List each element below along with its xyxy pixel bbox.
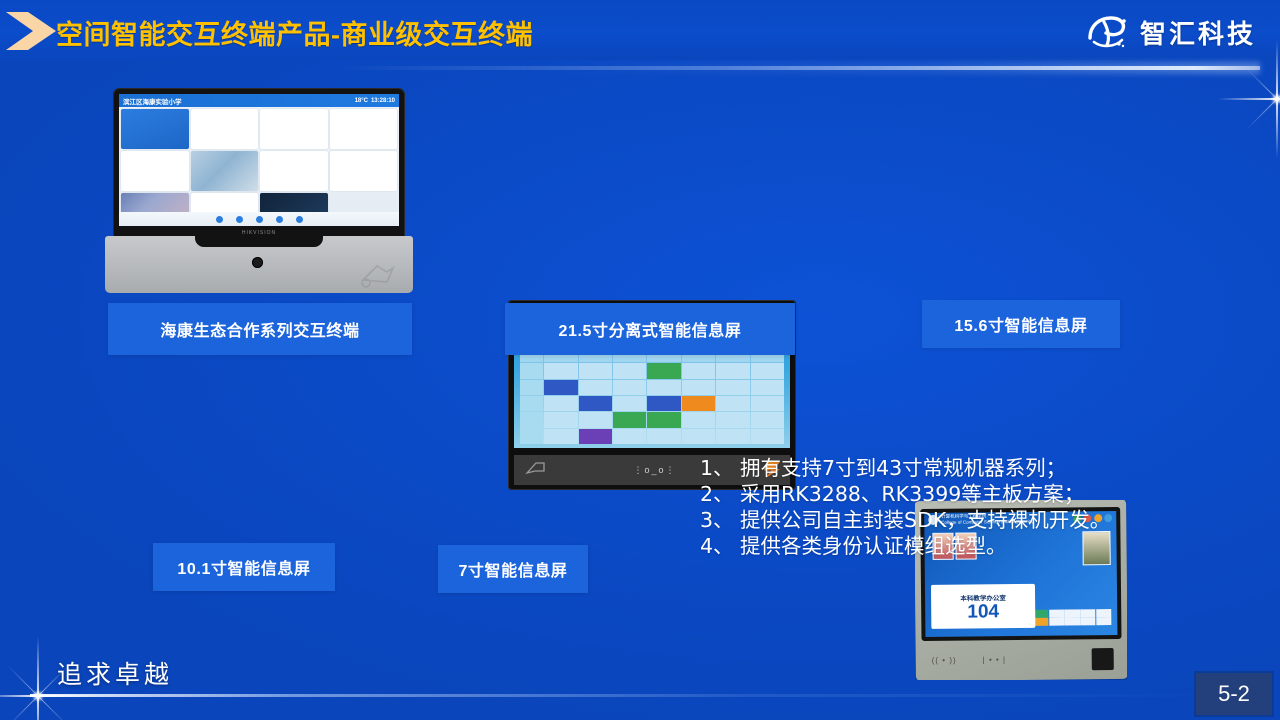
monitor-base <box>105 236 413 293</box>
product-caption-info-screen-10-1: 10.1寸智能信息屏 <box>153 543 335 591</box>
touch-hand-icon <box>357 258 399 293</box>
mini-schedule-table <box>1033 609 1111 626</box>
tile-schedule <box>121 151 189 191</box>
school-name: 滨江区海康实验小学 <box>123 96 182 106</box>
tile-honors <box>260 151 328 191</box>
slide-header: 空间智能交互终端产品-商业级交互终端 智汇科技 <box>0 0 1280 60</box>
list-item: 1、 拥有支持7寸到43寸常规机器系列； <box>700 455 1220 481</box>
dock-home-icon[interactable] <box>216 216 223 223</box>
footer-divider <box>30 694 1210 697</box>
list-item: 3、 提供公司自主封装SDK，支持裸机开发。 <box>700 507 1220 533</box>
header-divider-streak <box>330 66 1260 70</box>
timetable-grid <box>520 347 784 444</box>
camera-icon <box>252 257 263 268</box>
product-caption-info-screen-7: 7寸智能信息屏 <box>438 545 588 593</box>
base-notch <box>195 235 323 247</box>
card-reader-icon <box>1092 648 1114 670</box>
tile-photo-keyboard <box>191 151 259 191</box>
dock-profile-icon[interactable] <box>296 216 303 223</box>
proximity-sensor-icon <box>524 460 546 481</box>
product-caption-hikvision-terminal: 海康生态合作系列交互终端 <box>108 303 412 355</box>
screen-topbar: 滨江区海康实验小学 18°C 13:28:10 <box>119 94 399 107</box>
feature-list: 1、 拥有支持7寸到43寸常规机器系列； 2、 采用RK3288、RK3399等… <box>700 455 1220 559</box>
screen-clock: 13:28:10 <box>371 98 395 104</box>
tile-news <box>330 109 398 149</box>
product-caption-info-screen-15-6: 15.6寸智能信息屏 <box>922 300 1120 348</box>
list-item: 2、 采用RK3288、RK3399等主板方案； <box>700 481 1220 507</box>
dock-notice-icon[interactable] <box>276 216 283 223</box>
brand-logo: 智汇科技 <box>1084 12 1256 52</box>
dock-media-icon[interactable] <box>256 216 263 223</box>
tile-score <box>260 109 328 149</box>
room-plate: 本科教学办公室 104 <box>931 584 1035 629</box>
indicator-leds-icon: | • • | <box>983 655 1007 664</box>
footer-slogan: 追求卓越 <box>57 655 173 691</box>
screen-tile-grid <box>119 107 399 221</box>
product-image-hikvision-terminal: 滨江区海康实验小学 18°C 13:28:10 <box>105 88 413 293</box>
page-title: 空间智能交互终端产品-商业级交互终端 <box>56 13 533 52</box>
speaker-icon: (( • )) <box>932 655 957 664</box>
tile-announcement <box>330 151 398 191</box>
weather-temp: 18°C <box>355 98 368 104</box>
room-number: 104 <box>967 602 999 621</box>
page-number-badge: 5-2 <box>1196 673 1272 715</box>
screen-status: 18°C 13:28:10 <box>355 98 395 104</box>
list-item: 4、 提供各类身份认证模组选型。 <box>700 533 1220 559</box>
monitor-frame: 滨江区海康实验小学 18°C 13:28:10 <box>113 88 405 240</box>
slide-root: 空间智能交互终端产品-商业级交互终端 智汇科技 滨江区 <box>0 0 1280 720</box>
chevron-right-icon <box>6 9 58 53</box>
brand-name: 智汇科技 <box>1140 14 1256 51</box>
zhihui-logo-icon <box>1084 12 1132 52</box>
sensor-array-icon: ⋮o_o⋮ <box>633 465 676 476</box>
tile-notice <box>191 109 259 149</box>
tile-class-info <box>121 109 189 149</box>
product-caption-info-screen-21-5: 21.5寸分离式智能信息屏 <box>505 303 795 355</box>
dock-apps-icon[interactable] <box>236 216 243 223</box>
monitor-screen: 滨江区海康实验小学 18°C 13:28:10 <box>119 94 399 226</box>
screen-dock <box>119 212 399 226</box>
